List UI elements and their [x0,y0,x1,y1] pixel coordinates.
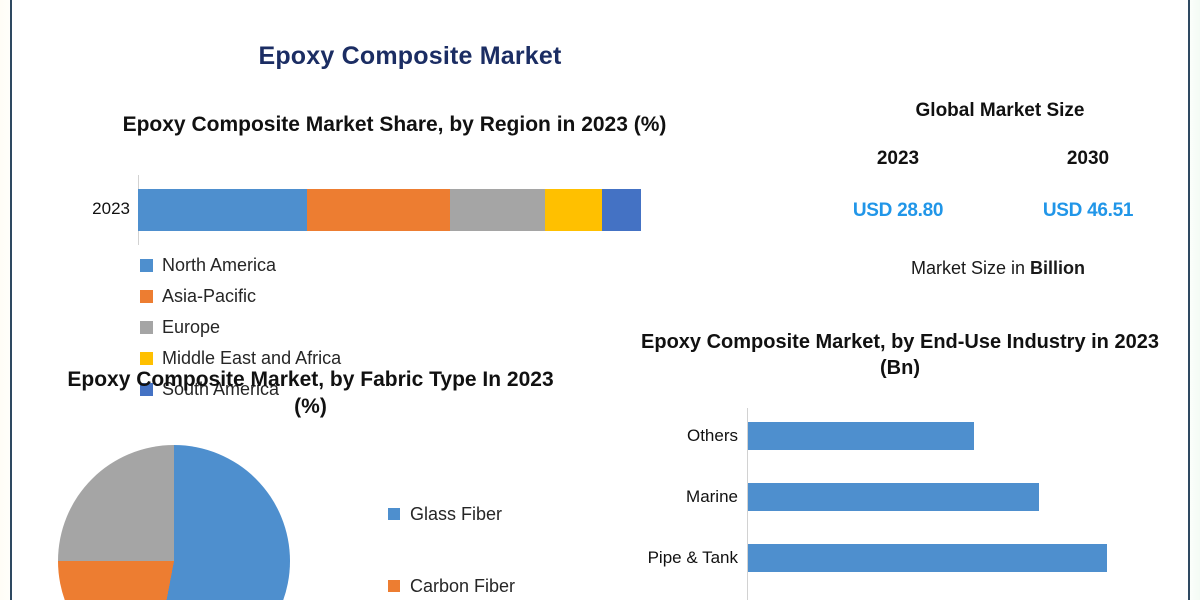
fabric-legend: Glass FiberCarbon Fiber [388,478,608,600]
legend-swatch-icon [140,290,153,303]
gms-value-2030: USD 46.51 [1008,200,1168,222]
region-chart-category-label: 2023 [66,199,130,219]
region-stacked-bar-chart: 2023 [118,175,678,245]
legend-swatch-icon [140,321,153,334]
gms-value-2023: USD 28.80 [818,200,978,222]
gms-footnote-unit: Billion [1030,258,1085,278]
region-legend-item: Asia-Pacific [140,281,430,312]
right-edge-wash [1190,0,1200,600]
legend-swatch-icon [140,259,153,272]
enduse-row: Others [640,422,1180,450]
enduse-category-label: Pipe & Tank [640,548,738,568]
fabric-legend-label: Glass Fiber [410,504,502,525]
region-segment-middle-east-and-africa [545,189,602,231]
enduse-category-label: Others [640,426,738,446]
enduse-bar-chart: OthersMarinePipe & TankElectrical & [640,404,1180,600]
page-title: Epoxy Composite Market [0,42,820,71]
legend-swatch-icon [140,352,153,365]
region-legend-label: Asia-Pacific [162,286,256,307]
fabric-legend-item: Glass Fiber [388,478,608,550]
enduse-bar [748,544,1107,572]
pie-slices [58,445,290,600]
gms-year-2023: 2023 [818,148,978,170]
fabric-chart-title: Epoxy Composite Market, by Fabric Type I… [58,366,563,421]
region-legend-label: North America [162,255,276,276]
region-segment-north-america [138,189,307,231]
fabric-legend-label: Carbon Fiber [410,576,515,597]
legend-swatch-icon [388,508,400,520]
region-stack-bar [138,189,641,231]
gms-footnote: Market Size in Billion [838,258,1158,279]
region-segment-europe [450,189,545,231]
left-edge-wash [0,0,10,600]
fabric-pie-chart [58,445,308,600]
enduse-row: Pipe & Tank [640,544,1180,572]
gms-year-2030: 2030 [1008,148,1168,170]
fabric-legend-item: Carbon Fiber [388,550,608,600]
legend-swatch-icon [388,580,400,592]
enduse-chart-title: Epoxy Composite Market, by End-Use Indus… [640,329,1160,381]
region-legend-item: North America [140,250,430,281]
enduse-row: Marine [640,483,1180,511]
enduse-category-label: Marine [640,487,738,507]
enduse-bar [748,483,1039,511]
region-legend-item: Europe [140,312,430,343]
region-segment-asia-pacific [307,189,450,231]
region-segment-south-america [602,189,641,231]
region-chart-title: Epoxy Composite Market Share, by Region … [118,111,671,138]
enduse-bar [748,422,974,450]
left-frame-border [10,0,12,600]
infographic-canvas: Epoxy Composite Market Epoxy Composite M… [0,0,1200,600]
region-legend-label: Europe [162,317,220,338]
global-market-size-title: Global Market Size [840,99,1160,124]
gms-footnote-prefix: Market Size in [911,258,1030,278]
